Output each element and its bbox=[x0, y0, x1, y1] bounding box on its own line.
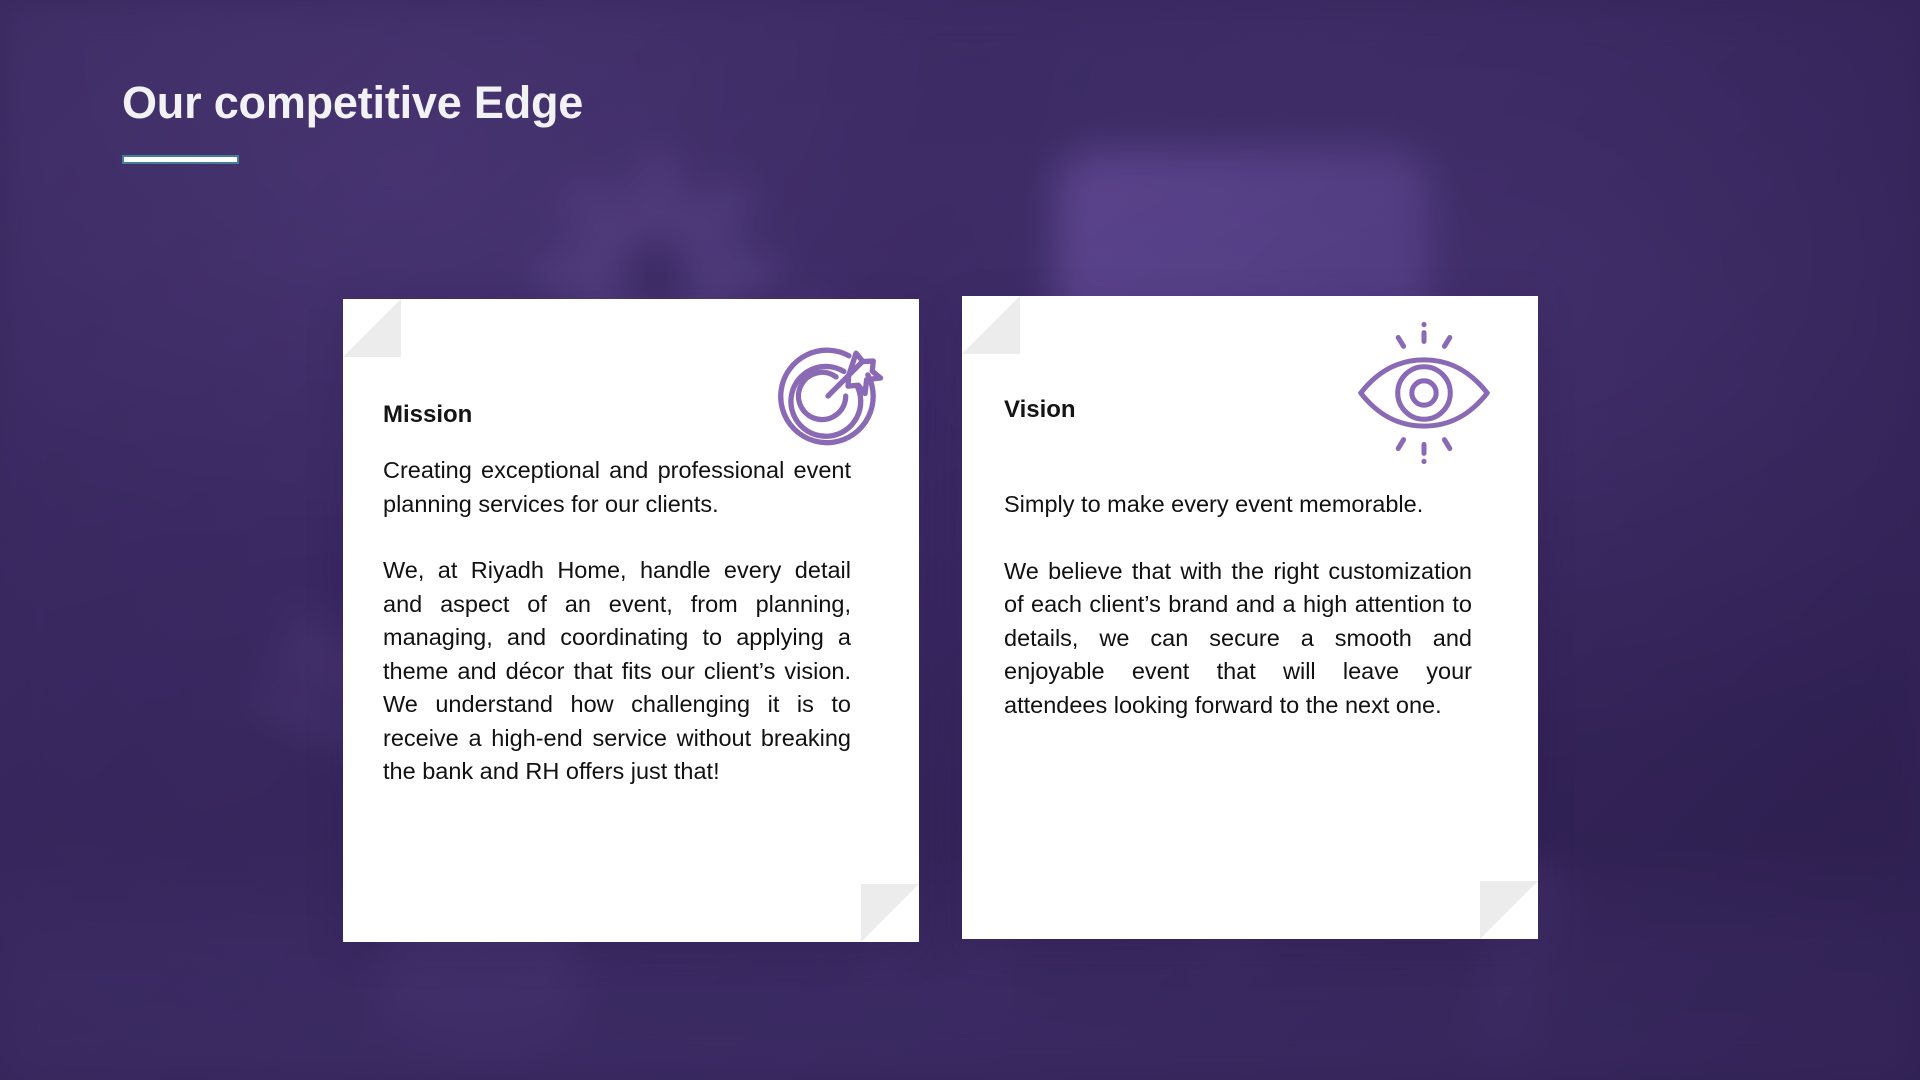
vision-card-fold-top-left bbox=[962, 296, 1020, 354]
mission-card-surface: Mission Creating exceptional and profess… bbox=[343, 299, 919, 942]
vision-paragraph-2: We believe that with the right customiza… bbox=[1004, 555, 1472, 723]
header: Our competitive Edge bbox=[122, 78, 583, 164]
target-arrow-icon bbox=[769, 337, 887, 455]
vision-card-body: Simply to make every event memorable. We… bbox=[1004, 488, 1472, 722]
vision-card-surface: Vision Simply to make every event memora… bbox=[962, 296, 1538, 939]
vision-card-title: Vision bbox=[1004, 396, 1076, 424]
mission-paragraph-2: We, at Riyadh Home, handle every detail … bbox=[383, 554, 851, 789]
mission-card-body: Creating exceptional and professional ev… bbox=[383, 454, 851, 789]
vision-card[interactable]: Vision Simply to make every event memora… bbox=[962, 296, 1538, 939]
mission-card-fold-top-left bbox=[343, 299, 401, 357]
vision-paragraph-1: Simply to make every event memorable. bbox=[1004, 488, 1472, 522]
mission-card[interactable]: Mission Creating exceptional and profess… bbox=[343, 299, 919, 942]
eye-icon bbox=[1348, 320, 1500, 466]
title-underline-rule bbox=[122, 155, 239, 164]
mission-card-fold-bottom-right bbox=[861, 884, 919, 942]
page-title: Our competitive Edge bbox=[122, 78, 583, 128]
mission-paragraph-1: Creating exceptional and professional ev… bbox=[383, 454, 851, 521]
mission-card-title: Mission bbox=[383, 401, 472, 429]
vision-card-fold-bottom-right bbox=[1480, 881, 1538, 939]
slide-canvas: Our competitive Edge Mission Creating ex… bbox=[0, 0, 1920, 1080]
